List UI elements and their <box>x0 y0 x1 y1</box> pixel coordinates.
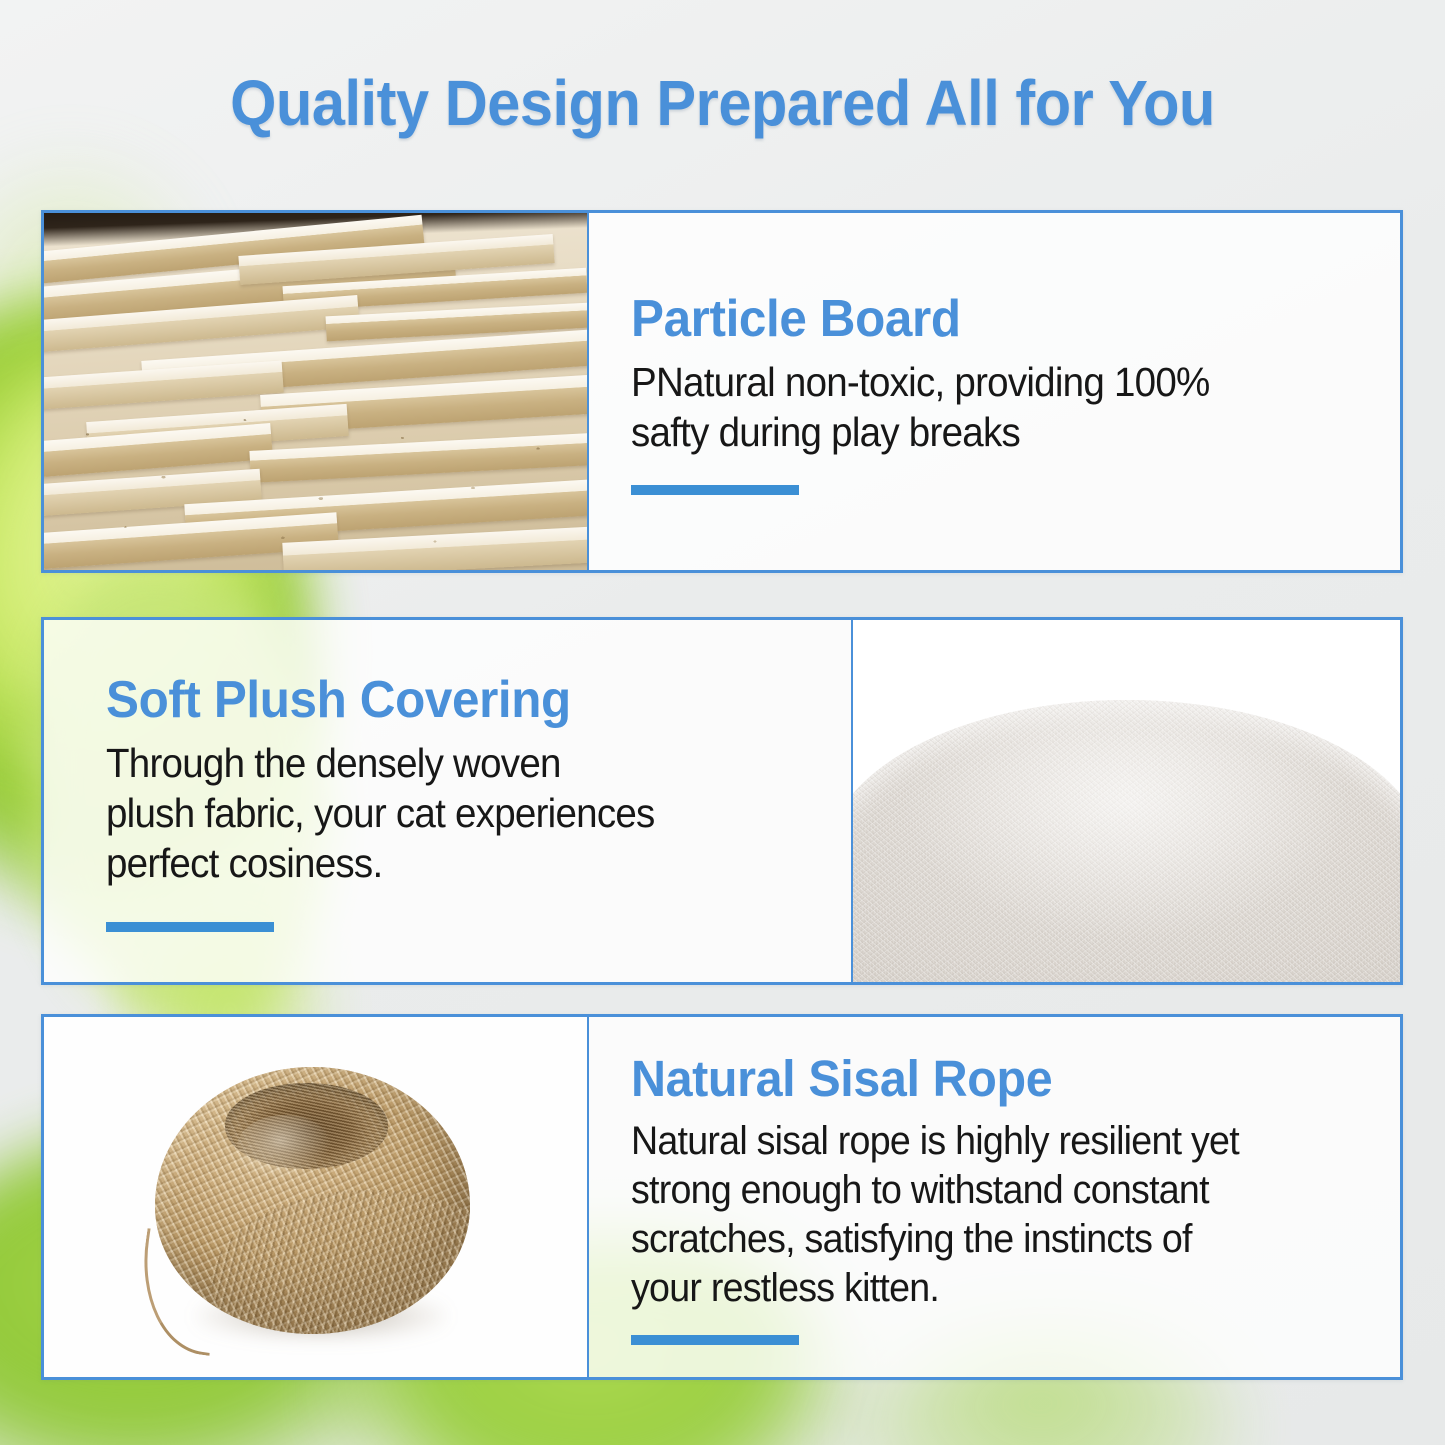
body-line: plush fabric, your cat experiences <box>106 788 769 838</box>
plush-highlight <box>853 700 1400 982</box>
body-line: your restless kitten. <box>631 1264 1320 1313</box>
body-line: strong enough to withstand constant <box>631 1166 1320 1215</box>
card-body: Through the densely woven plush fabric, … <box>106 738 769 888</box>
particle-board-text: Particle Board PNatural non-toxic, provi… <box>589 213 1400 570</box>
body-line: perfect cosiness. <box>106 838 769 888</box>
plush-fabric-image <box>853 620 1400 982</box>
body-line: PNatural non-toxic, providing 100% <box>631 357 1316 407</box>
page-title: Quality Design Prepared All for You <box>51 66 1395 140</box>
body-line: Through the densely woven <box>106 738 769 788</box>
accent-underline <box>631 485 799 495</box>
chipboard-speckle-texture <box>44 213 587 570</box>
sisal-rope-image <box>44 1017 589 1377</box>
sisal-rope-text: Natural Sisal Rope Natural sisal rope is… <box>589 1017 1400 1377</box>
sisal-rope-artwork <box>44 1017 587 1377</box>
particle-board-artwork <box>44 213 587 570</box>
plush-artwork <box>853 620 1400 982</box>
feature-card-particle-board: Particle Board PNatural non-toxic, provi… <box>41 210 1403 573</box>
soft-plush-text: Soft Plush Covering Through the densely … <box>44 620 853 982</box>
rope-highlight <box>237 1115 331 1179</box>
body-line: scratches, satisfying the instincts of <box>631 1215 1320 1264</box>
card-heading: Natural Sisal Rope <box>631 1049 1327 1109</box>
card-heading: Soft Plush Covering <box>106 670 776 730</box>
card-heading: Particle Board <box>631 289 1324 349</box>
feature-card-soft-plush-covering: Soft Plush Covering Through the densely … <box>41 617 1403 985</box>
plush-dome-shape <box>853 700 1400 982</box>
infographic-stage: Quality Design Prepared All for You <box>0 0 1445 1445</box>
card-body: Natural sisal rope is highly resilient y… <box>631 1117 1320 1313</box>
accent-underline <box>106 922 274 932</box>
feature-card-natural-sisal-rope: Natural Sisal Rope Natural sisal rope is… <box>41 1014 1403 1380</box>
body-line: Natural sisal rope is highly resilient y… <box>631 1117 1320 1166</box>
rope-loose-end <box>131 1228 226 1356</box>
card-body: PNatural non-toxic, providing 100% safty… <box>631 357 1316 457</box>
body-line: safty during play breaks <box>631 407 1316 457</box>
particle-board-image <box>44 213 589 570</box>
accent-underline <box>631 1335 799 1345</box>
